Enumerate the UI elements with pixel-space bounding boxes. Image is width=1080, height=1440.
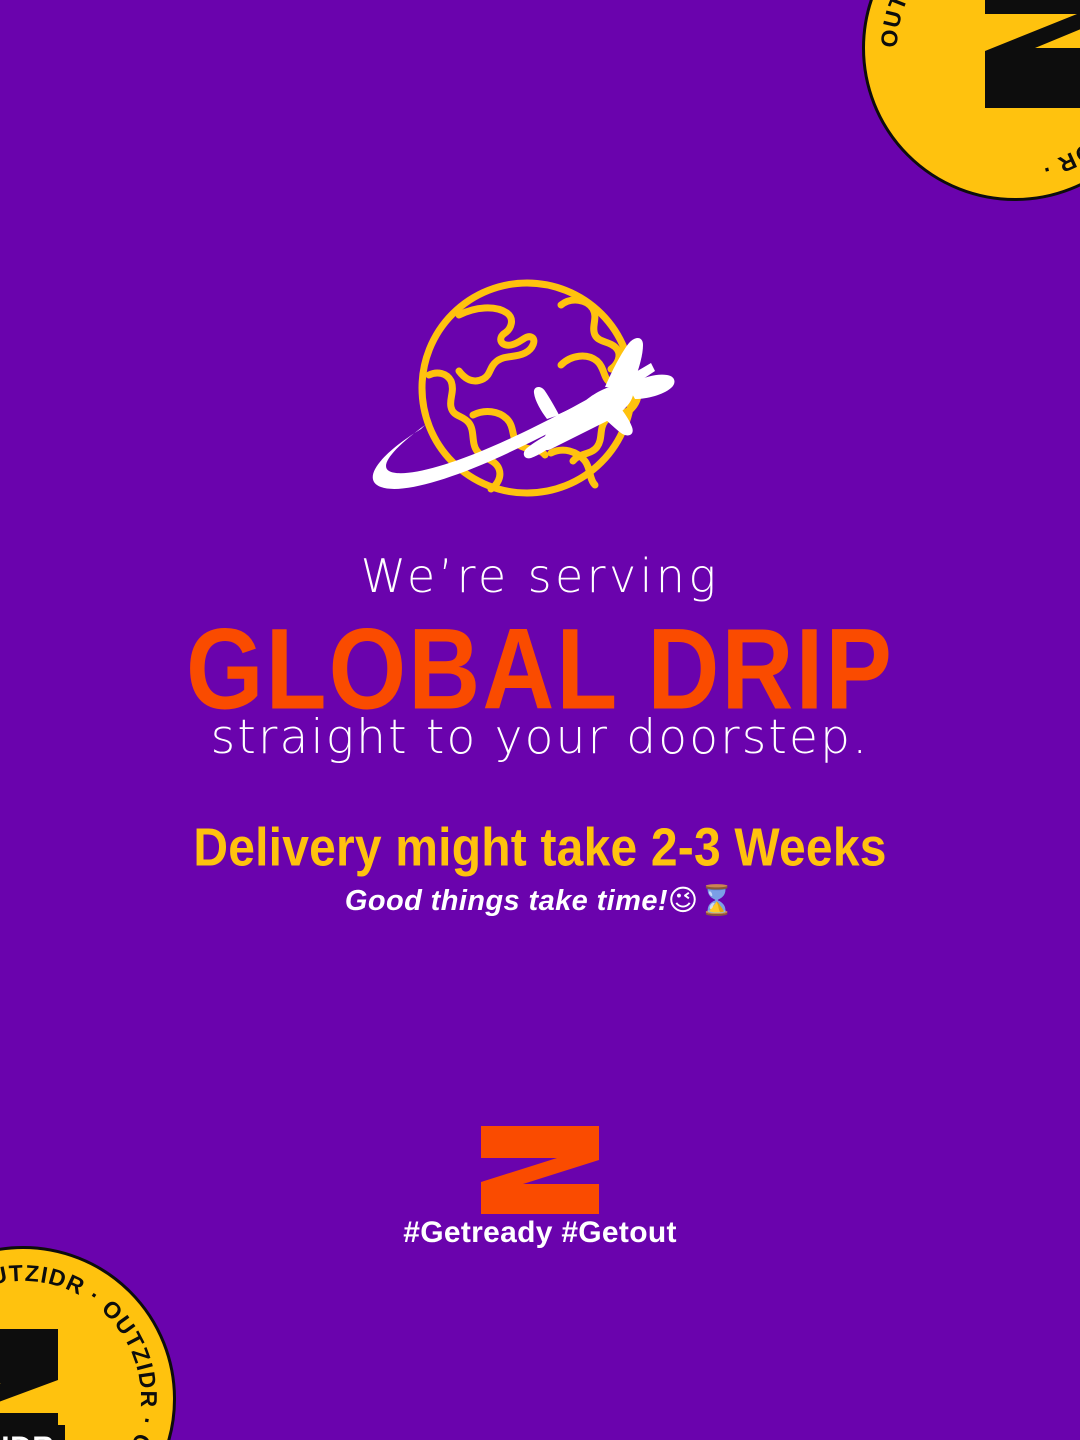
- hourglass-emoji: ⌛: [699, 883, 736, 917]
- outzidr-z-logo-icon: [0, 1329, 65, 1440]
- poster-canvas: OUTZIDR · OUTZIDR · OUTZIDR · OUTZIDR · …: [0, 0, 1080, 1440]
- hashtags-text: #Getready #Getout: [0, 1216, 1080, 1250]
- delivery-subtext-row: Good things take time!😉⌛: [0, 880, 1080, 922]
- badge-center-wordmark: OUTZIDR: [0, 1431, 54, 1440]
- outzidr-badge-bottom-left: OUTZIDR · OUTZIDR · OUTZIDR · OUTZIDR · …: [0, 1246, 176, 1440]
- winking-face-emoji: 😉: [668, 883, 699, 917]
- outzidr-z-logo-icon: [985, 0, 1080, 108]
- headline-line-3: straight to your doorstep.: [0, 714, 1080, 761]
- globe-airplane-emblem: [355, 275, 715, 510]
- headline-line-1: We’re serving: [0, 553, 1080, 599]
- delivery-subtext: Good things take time!: [345, 885, 668, 917]
- outzidr-badge-top-right: OUTZIDR · OUTZIDR · OUTZIDR · OUTZIDR ·: [862, 0, 1080, 201]
- delivery-notice: Delivery might take 2-3 Weeks: [0, 822, 1080, 876]
- brand-logo-footer: [0, 1124, 1080, 1221]
- outzidr-z-logo-icon: [479, 1124, 601, 1216]
